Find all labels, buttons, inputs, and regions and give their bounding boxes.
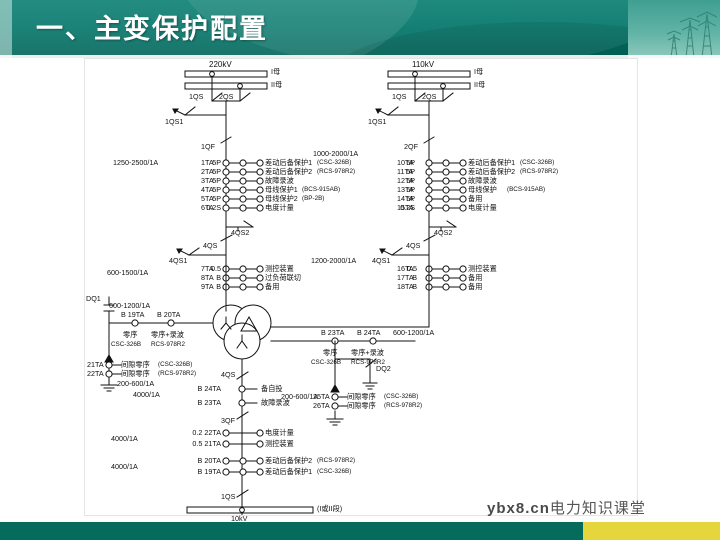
mv-ct-2-use: 故障录波 xyxy=(468,177,497,184)
mv-1qs-label: 1QS xyxy=(392,93,406,100)
header-left-accent xyxy=(0,0,12,58)
mv-ct-1-tag: 11TA xyxy=(397,168,413,175)
hv-ct-4-tag: 5TA xyxy=(201,195,214,202)
hv-neutral-ct-1-use: 零序+录波 xyxy=(151,331,184,338)
hv-gap-ct-0-device: (CSC-326B) xyxy=(158,362,192,368)
mv-ct-1-device: (RCS-978R2) xyxy=(520,169,558,175)
hv-ct-0-tag: 1TA xyxy=(201,159,214,166)
hv-ct-4-device: (BP-2B) xyxy=(302,196,324,202)
mv-4qs1-label: 4QS1 xyxy=(372,257,390,264)
hv-ct-1-tag: 2TA xyxy=(201,168,214,175)
lv-top-ct-0-label: B 24TA xyxy=(165,385,221,392)
hv-ct2-2-tag: 9TA xyxy=(201,283,214,290)
lv-top-ct-1-use: 故障录波 xyxy=(261,399,290,406)
hv-ct-3-device: (BCS-915AB) xyxy=(302,187,340,193)
hv-1qs-label: 1QS xyxy=(189,93,203,100)
mv-2qf-label: 2QF xyxy=(404,143,418,150)
mv-neutral-ct-0-label: B 23TA xyxy=(321,329,344,336)
page-title: 一、主变保护配置 xyxy=(36,12,268,46)
mv-ct2-ratio: 1200-2000/1A xyxy=(311,257,356,264)
hv-ct-3-tag: 4TA xyxy=(201,186,214,193)
hv-4qs2-label: 4QS2 xyxy=(231,229,249,236)
mv-ct-5-use: 电度计量 xyxy=(468,204,497,211)
hv-2qs-label: 2QS xyxy=(219,93,233,100)
lv-bot-ratio: 4000/1A xyxy=(111,463,138,470)
hv-ct2-2-use: 备用 xyxy=(265,283,279,290)
hv-gap-ct-1-device: (RCS-978R2) xyxy=(158,371,196,377)
hv-ct2-1-use: 过负荷联切 xyxy=(265,274,301,281)
single-line-diagram: 220kV I母 II母 1QS 2QS 1QS1 1QF 1250-2500/… xyxy=(84,58,638,516)
hv-bus2-label: II母 xyxy=(271,81,282,88)
mv-ct-1-use: 差动后备保护2 xyxy=(468,168,515,175)
hv-1qf-label: 1QF xyxy=(201,143,215,150)
hv-ct-3-use: 母线保护1 xyxy=(265,186,298,193)
hv-ct2-0-use: 测控装置 xyxy=(265,265,294,272)
mv-ct-4-use: 备用 xyxy=(468,195,482,202)
lv-mid-ct-0-label: 0.2 22TA xyxy=(155,429,221,436)
footer-yellow-bar xyxy=(583,522,720,540)
mv-ct-4-tag: 14TA xyxy=(397,195,414,202)
hv-ct-1-device: (RCS-978R2) xyxy=(317,169,355,175)
mv-ct-5-tag: 15TA xyxy=(397,204,414,211)
footer-teal-bar xyxy=(0,522,583,540)
mv-ct2-1-use: 备用 xyxy=(468,274,482,281)
hv-4qs-label: 4QS xyxy=(203,242,217,249)
lv-top-ct-0-use: 备自投 xyxy=(261,385,283,392)
mv-1qs1-label: 1QS1 xyxy=(368,118,386,125)
mv-bus1-label: I母 xyxy=(474,68,483,75)
mv-neutral-ct-0-use: 零序 xyxy=(323,349,337,356)
mv-gap-ct-0-tag: 25TA xyxy=(313,393,330,400)
lv-3qf-label: 3QF xyxy=(221,417,235,424)
hv-ct-4-use: 母线保护2 xyxy=(265,195,298,202)
mv-ct-3-use: 母线保护 xyxy=(468,186,497,193)
transmission-tower-photo xyxy=(628,0,720,58)
hv-bus1-label: I母 xyxy=(271,68,280,75)
hv-ct-ratio: 1250-2500/1A xyxy=(113,159,158,166)
hv-neutral-ratio: 600-1200/1A xyxy=(109,302,150,309)
mv-neutral-ct-1-label: B 24TA xyxy=(357,329,380,336)
mv-2qs-label: 2QS xyxy=(422,93,436,100)
hv-gap-ratio: 200-600/1A xyxy=(117,380,154,387)
hv-ct-5-use: 电度计量 xyxy=(265,204,294,211)
mv-ct2-0-tag: 16TA xyxy=(397,265,414,272)
mv-4qs-label: 4QS xyxy=(406,242,420,249)
lv-bot-ct-0-device: (RCS-978R2) xyxy=(317,458,355,464)
hv-gap-ct-1-tag: 22TA xyxy=(87,370,104,377)
mv-ct-3-device: (BCS-915AB) xyxy=(507,187,545,193)
watermark: ybx8.cn电力知识课堂 xyxy=(487,497,646,518)
hv-ct-5-tag: 6TA xyxy=(201,204,214,211)
mv-ct2-2-use: 备用 xyxy=(468,283,482,290)
hv-1qs1-label: 1QS1 xyxy=(165,118,183,125)
mv-ct-3-tag: 13TA xyxy=(397,186,414,193)
mv-gap-ct-1-device: (RCS-978R2) xyxy=(384,403,422,409)
slide-footer xyxy=(0,522,720,540)
hv-4qs1-label: 4QS1 xyxy=(169,257,187,264)
hv-gap-ct-0-use: 间隙零序 xyxy=(121,361,150,368)
dq1-label: DQ1 xyxy=(86,295,101,302)
hv-ct2-ratio: 600-1500/1A xyxy=(107,269,148,276)
mv-gap-ct-1-use: 间隙零序 xyxy=(347,402,376,409)
mv-bus-2 xyxy=(388,83,470,89)
lv-mid-ct-1-label: 0.5 21TA xyxy=(155,440,221,447)
hv-ct-0-device: (CSC-326B) xyxy=(317,160,351,166)
mv-ct2-1-tag: 17TA xyxy=(397,274,414,281)
hv-bus-2 xyxy=(185,83,267,89)
lv-bot-ct-1-use: 差动后备保护1 xyxy=(265,468,312,475)
lv-4qs-label: 4QS xyxy=(221,371,235,378)
lv-bot-ct-0-label: B 20TA xyxy=(155,457,221,464)
lv-bus xyxy=(187,507,313,513)
lv-bot-ct-0-use: 差动后备保护2 xyxy=(265,457,312,464)
lv-section-label: (I或II段) xyxy=(317,505,342,512)
hv-ct-0-use: 差动后备保护1 xyxy=(265,159,312,166)
lv-mid-ratio: 4000/1A xyxy=(111,435,138,442)
mv-gap-ct-1-tag: 26TA xyxy=(313,402,330,409)
mv-gap-ct-0-use: 间隙零序 xyxy=(347,393,376,400)
hv-bus-1 xyxy=(185,71,267,77)
hv-neutral-ct-0-device: CSC-326B xyxy=(111,342,141,348)
lv-mid-ct-0-use: 电度计量 xyxy=(265,429,294,436)
mv-voltage-label: 110kV xyxy=(412,61,434,69)
mv-neutral-ct-1-use: 零序+录波 xyxy=(351,349,384,356)
hv-ct2-0-tag: 7TA xyxy=(201,265,214,272)
lv-bot-ct-1-device: (CSC-326B) xyxy=(317,469,351,475)
mv-ct-0-tag: 10TA xyxy=(397,159,414,166)
hv-ct-2-use: 故障录波 xyxy=(265,177,294,184)
lv-top-ratio: 4000/1A xyxy=(133,391,160,398)
watermark-brand: 电力知识课堂 xyxy=(550,500,646,517)
mv-ct-0-use: 差动后备保护1 xyxy=(468,159,515,166)
mv-ct-2-tag: 12TA xyxy=(397,177,414,184)
tower-icon xyxy=(628,0,720,58)
lv-mid-ct-1-use: 测控装置 xyxy=(265,440,294,447)
mv-ct-0-device: (CSC-326B) xyxy=(520,160,554,166)
hv-neutral-ct-0-use: 零序 xyxy=(123,331,137,338)
mv-bus-1 xyxy=(388,71,470,77)
mv-gap-ct-0-device: (CSC-326B) xyxy=(384,394,418,400)
watermark-site: ybx8.cn xyxy=(487,500,550,517)
hv-ct-1-use: 差动后备保护2 xyxy=(265,168,312,175)
lv-bot-ct-1-label: B 19TA xyxy=(155,468,221,475)
slide-root: 一、主变保护配置 xyxy=(0,0,720,540)
mv-ct2-0-use: 测控装置 xyxy=(468,265,497,272)
hv-voltage-label: 220kV xyxy=(209,61,232,69)
mv-4qs2-label: 4QS2 xyxy=(434,229,452,236)
hv-neutral-ct-0-label: B 19TA xyxy=(121,311,144,318)
mv-neutral-ct-0-device: CSC-326B xyxy=(311,360,341,366)
mv-ct-ratio: 1000-2000/1A xyxy=(313,150,358,157)
hv-ct-2-tag: 3TA xyxy=(201,177,214,184)
hv-neutral-ct-1-device: RCS-978R2 xyxy=(151,342,185,348)
mv-ct2-2-tag: 18TA xyxy=(397,283,414,290)
hv-ct2-1-tag: 8TA xyxy=(201,274,214,281)
dq2-label: DQ2 xyxy=(376,365,391,372)
hv-gap-ct-0-tag: 21TA xyxy=(87,361,104,368)
mv-neutral-ratio: 600-1200/1A xyxy=(393,329,434,336)
hv-neutral-ct-1-label: B 20TA xyxy=(157,311,180,318)
lv-1qs-label: 1QS xyxy=(221,493,235,500)
lv-top-ct-1-label: B 23TA xyxy=(165,399,221,406)
mv-bus2-label: II母 xyxy=(474,81,485,88)
hv-gap-ct-1-use: 间隙零序 xyxy=(121,370,150,377)
slide-header: 一、主变保护配置 xyxy=(0,0,720,58)
